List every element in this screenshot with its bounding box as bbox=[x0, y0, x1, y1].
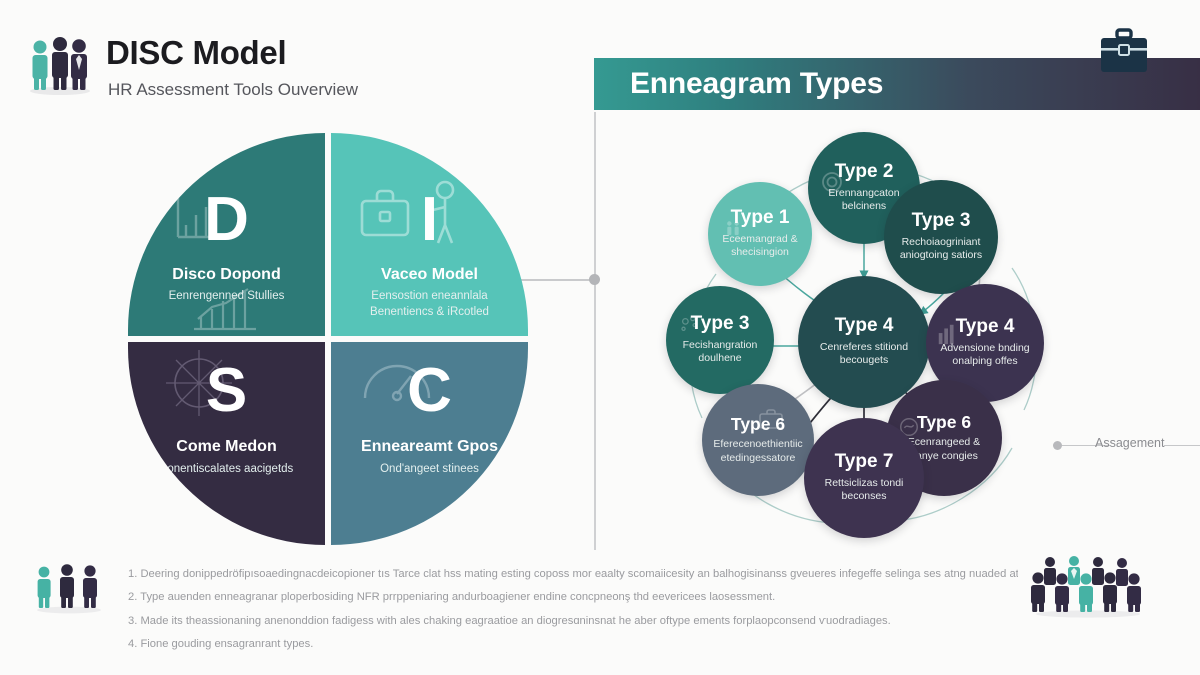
footer-note: 4. Fione gouding ensagranrant types. bbox=[128, 636, 1018, 653]
target-icon bbox=[820, 170, 844, 199]
enneagram-node-type-1[interactable]: Type 1 Eceemangrad & shecisingion bbox=[708, 182, 812, 286]
briefcase-icon bbox=[1098, 28, 1150, 74]
node-title: Type 3 bbox=[912, 211, 971, 232]
panel-divider bbox=[594, 112, 596, 550]
node-desc: Rechoiaogriniant aniogtoing satiors bbox=[892, 236, 990, 263]
assagement-line-right bbox=[1164, 445, 1200, 446]
disc-desc: Sonentiscalates aacigetds bbox=[144, 462, 309, 478]
enneagram-node-type-3-left[interactable]: Type 3 Fecishangration doulhene bbox=[666, 286, 774, 394]
disc-wheel: D Disco Dopond Eenrengenned Stullies I V… bbox=[128, 133, 528, 545]
disc-title: Disco Dopond bbox=[128, 266, 325, 284]
assagement-label: Assagement bbox=[1095, 436, 1164, 450]
footer-note: 1. Deering donippedröfipısoaedingnacdeic… bbox=[128, 566, 1018, 583]
bar-chart-icon-small bbox=[190, 285, 260, 336]
node-title: Type 4 bbox=[835, 316, 894, 337]
briefcase-icon bbox=[758, 408, 784, 435]
assagement-dot bbox=[1053, 441, 1062, 450]
footer-note: 3. Made its theassionaning anenonddion f… bbox=[128, 613, 1018, 630]
enneagram-node-type-4-center[interactable]: Type 4 Cenreferes stitiond becougets bbox=[798, 276, 930, 408]
bar-chart-icon bbox=[936, 322, 960, 351]
node-title: Type 6 bbox=[917, 413, 971, 432]
connector-dot bbox=[589, 274, 600, 285]
node-desc: Eferecenoethientiic etedingessatore bbox=[710, 438, 806, 465]
footer-note: 2. Type auenden enneagranar ploperbosidi… bbox=[128, 589, 1018, 606]
people-small-icon bbox=[722, 218, 744, 245]
disc-quadrant-i[interactable]: I Vaceo Model Eensostion eneannlala Bene… bbox=[331, 133, 528, 336]
node-title: Type 4 bbox=[956, 317, 1015, 338]
disc-letter: I bbox=[331, 189, 528, 251]
enneagram-node-type-3-right[interactable]: Type 3 Rechoiaogriniant aniogtoing satio… bbox=[884, 180, 998, 294]
disc-title: Enneareamt Gpos bbox=[331, 438, 528, 456]
node-title: Type 7 bbox=[835, 452, 894, 473]
disc-desc: Eensostion eneannlala Benentiencs & iRco… bbox=[347, 289, 512, 321]
bubbles-icon bbox=[678, 314, 702, 343]
people-group-icon bbox=[24, 32, 96, 96]
footer-notes: 1. Deering donippedröfipısoaedingnacdeic… bbox=[128, 566, 1018, 659]
enneagram-node-type-6-left[interactable]: Type 6 Eferecenoethientiic etedingessato… bbox=[702, 384, 814, 496]
disc-quadrant-c[interactable]: C Enneareamt Gpos Ond'angeet stinees bbox=[331, 342, 528, 545]
disc-letter: D bbox=[128, 189, 325, 251]
disc-title: Vaceo Model bbox=[331, 266, 528, 284]
enneagram-diagram: Type 2 Erennangcaton belcinens Type 1 Ec… bbox=[620, 118, 1090, 548]
enneagram-node-type-7[interactable]: Type 7 Rettsiclizas tondi beconses bbox=[804, 418, 924, 538]
panel-title: Enneagram Types bbox=[630, 67, 883, 101]
disc-quadrant-d[interactable]: D Disco Dopond Eenrengenned Stullies bbox=[128, 133, 325, 336]
disc-letter: S bbox=[128, 360, 325, 422]
disc-letter: C bbox=[331, 360, 528, 422]
people-group-icon bbox=[30, 562, 108, 614]
disc-quadrant-s[interactable]: S Come Medon Sonentiscalates aacigetds bbox=[128, 342, 325, 545]
page-subtitle: HR Assessment Tools Ouverview bbox=[108, 80, 358, 100]
page-title: DISC Model bbox=[106, 34, 286, 72]
disc-desc: Ond'angeet stinees bbox=[347, 462, 512, 478]
disc-title: Come Medon bbox=[128, 438, 325, 456]
node-desc: Cenreferes stitiond becougets bbox=[807, 341, 921, 368]
infographic-canvas: DISC Model HR Assessment Tools Ouverview… bbox=[0, 0, 1200, 675]
people-crowd-icon bbox=[1022, 556, 1148, 618]
node-desc: Rettsiclizas tondi beconses bbox=[812, 477, 915, 504]
